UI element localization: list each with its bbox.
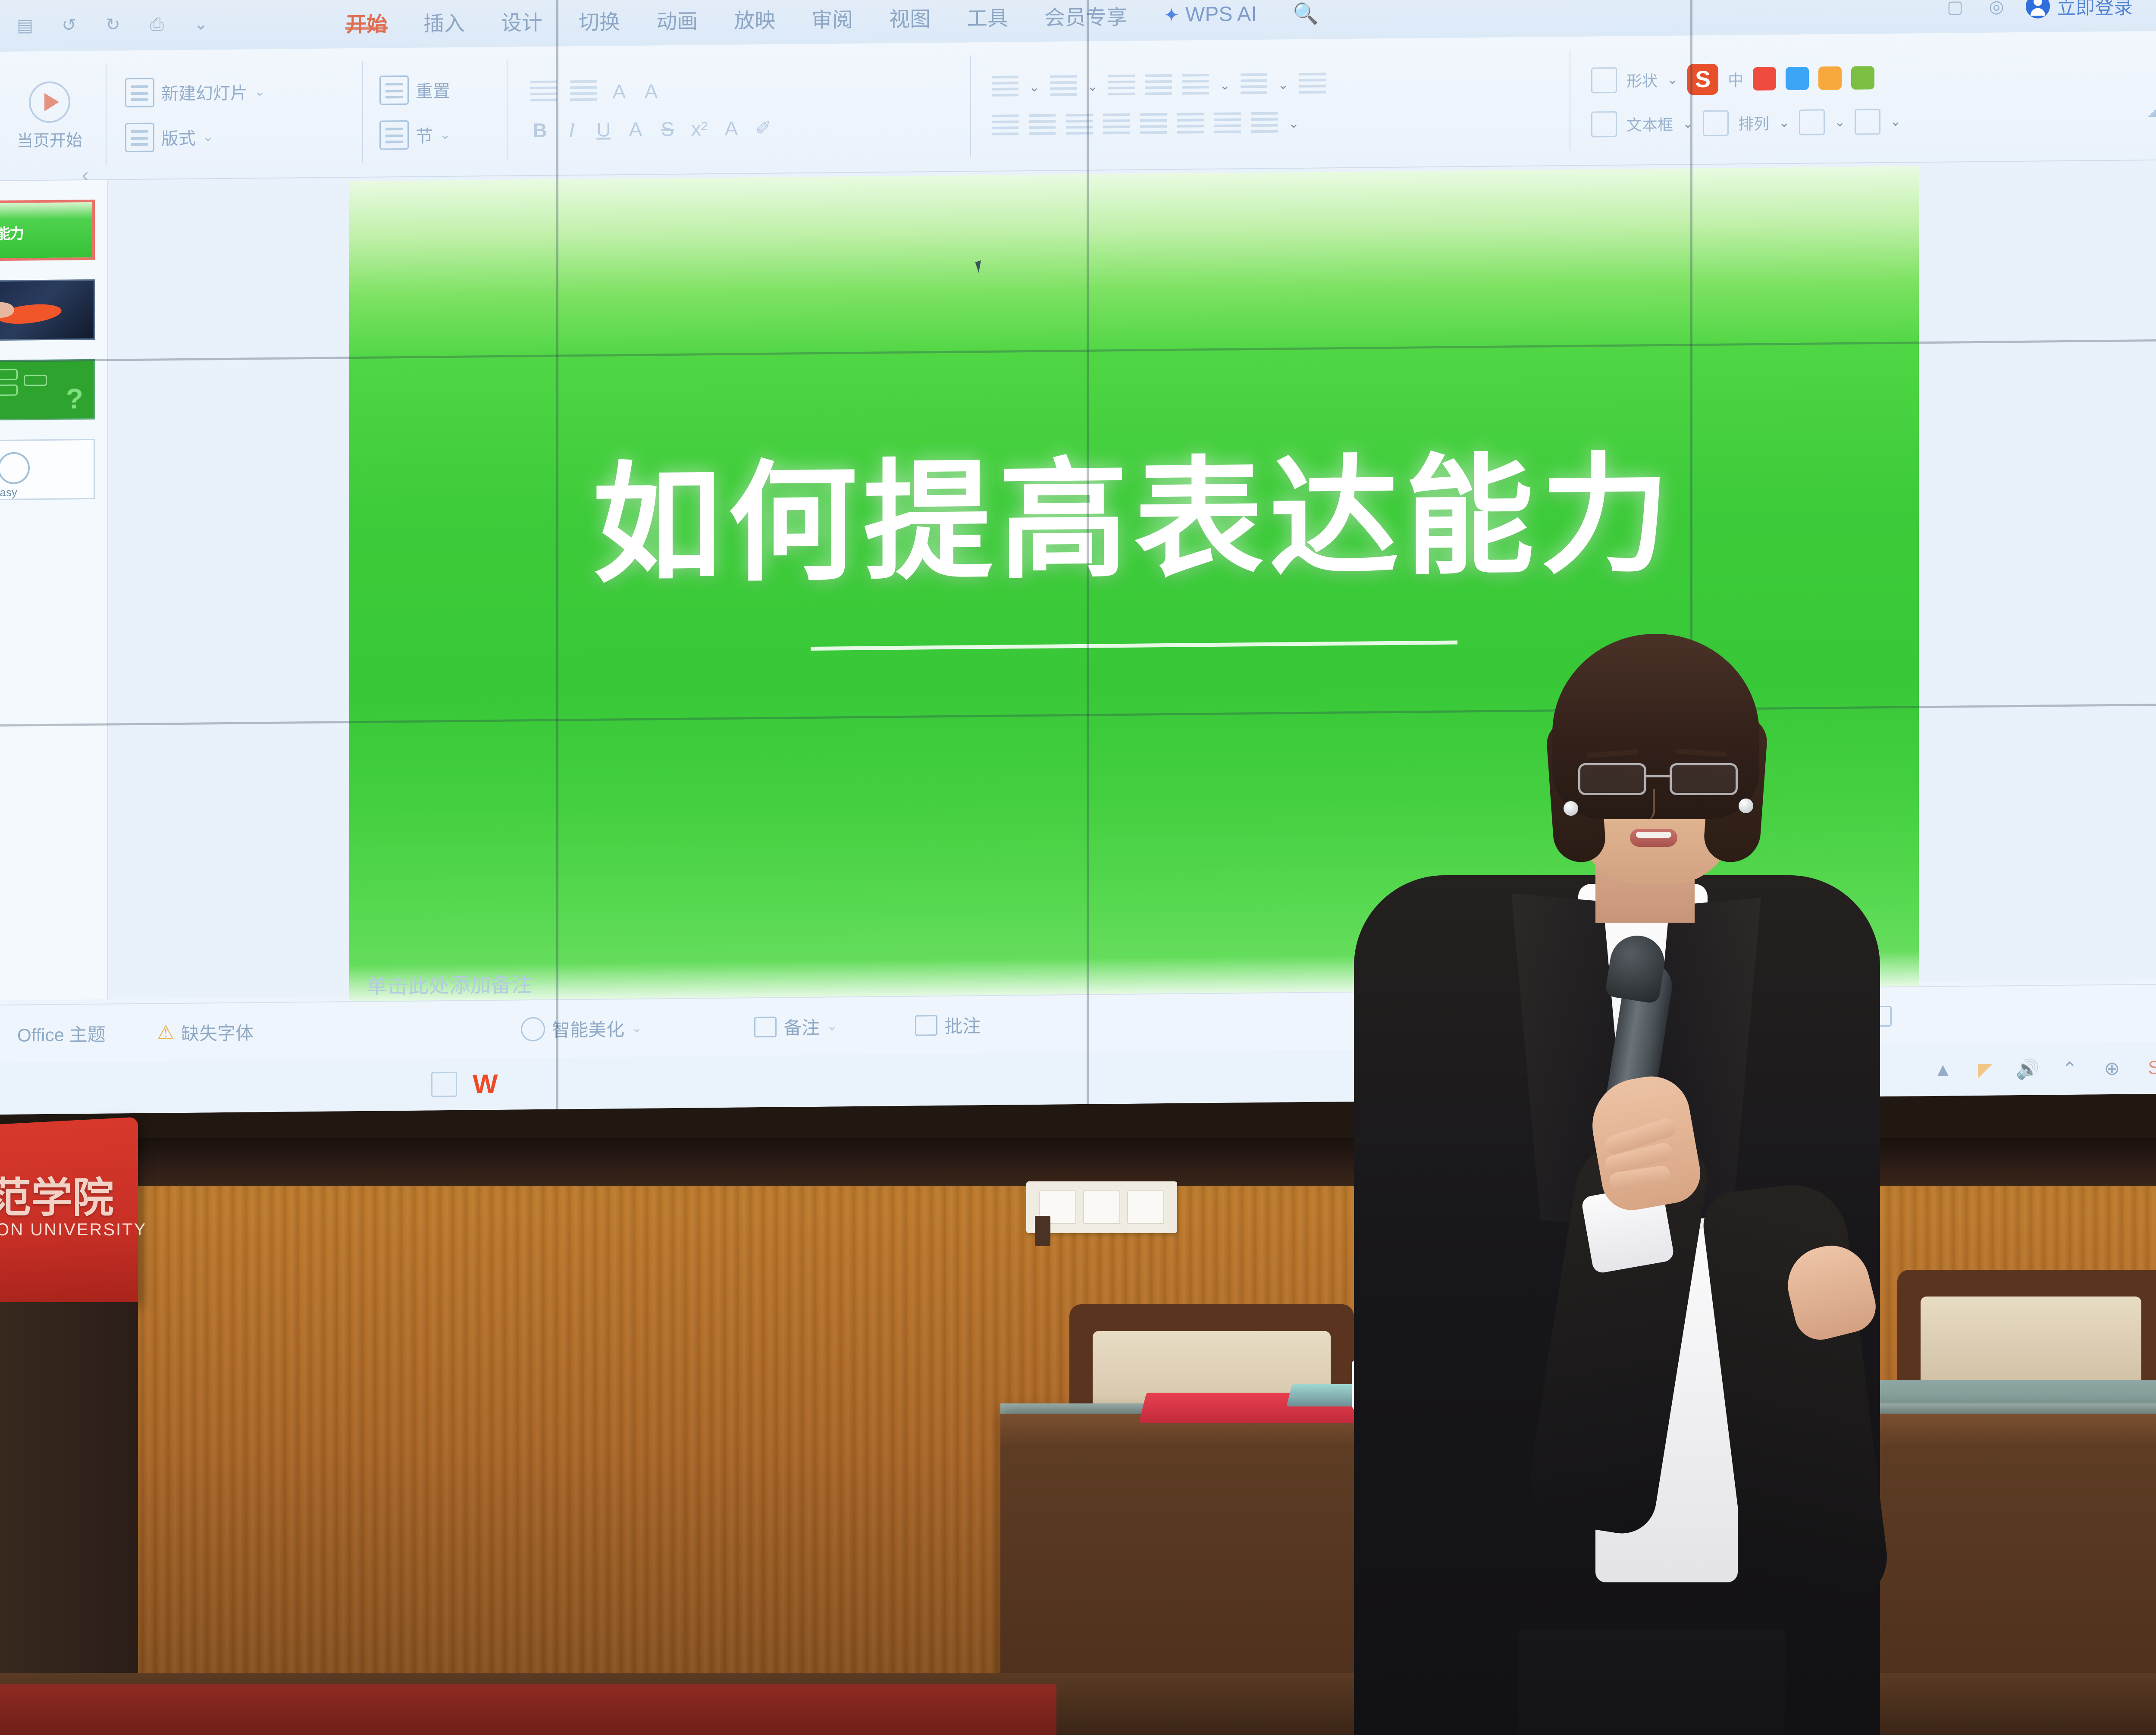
decrease-indent-button[interactable] xyxy=(1108,75,1135,98)
cloud-sync-icon[interactable]: ☁ xyxy=(2147,97,2156,122)
tab-animation[interactable]: 动画 xyxy=(638,4,716,35)
collapse-panel-button[interactable]: ‹ xyxy=(82,163,88,186)
login-label: 立即登录 xyxy=(2057,0,2133,20)
theme-label[interactable]: Office 主题 xyxy=(17,1020,106,1047)
section-icon xyxy=(379,120,409,150)
underline-button[interactable]: U xyxy=(594,118,613,141)
chevron-down-icon[interactable]: ⌄ xyxy=(1278,77,1288,92)
chevron-down-icon[interactable]: ⌄ xyxy=(440,127,451,142)
mobile-icon[interactable]: ▢ xyxy=(1943,0,1967,19)
new-slide-button[interactable]: 新建幻灯片 ⌄ xyxy=(125,77,265,107)
tab-slideshow[interactable]: 放映 xyxy=(716,3,793,34)
ribbon-group-font: A A B I U A S x² A ✐ xyxy=(530,44,773,176)
justify-button[interactable] xyxy=(1103,113,1130,137)
avatar xyxy=(2026,0,2050,19)
eyeglasses xyxy=(1578,763,1738,795)
presenter-legs xyxy=(1518,1630,1785,1735)
decrease-font-icon[interactable]: A xyxy=(642,79,661,103)
app-tray-icon[interactable]: ◤ xyxy=(1974,1059,1996,1081)
section-button[interactable]: 节 ⌄ xyxy=(379,120,451,150)
chevron-down-icon[interactable]: ⌄ xyxy=(1667,72,1678,87)
chevron-down-icon[interactable]: ⌄ xyxy=(1029,79,1040,94)
file-explorer-icon[interactable] xyxy=(431,1072,457,1097)
wps-app-icon[interactable]: W xyxy=(473,1068,498,1099)
chevron-down-icon[interactable]: ⌄ xyxy=(189,12,213,36)
color-green-icon[interactable] xyxy=(1851,66,1874,90)
quick-access-toolbar: ▤ ↺ ↻ ⎙ ⌄ xyxy=(0,12,213,38)
chevron-down-icon[interactable]: ⌄ xyxy=(1779,115,1789,130)
tab-member-exclusive[interactable]: 会员专享 xyxy=(1026,0,1145,31)
outline-icon[interactable] xyxy=(1855,109,1880,135)
comment-icon xyxy=(915,1015,937,1036)
character-spacing-button[interactable]: A xyxy=(722,117,741,140)
fill-icon[interactable] xyxy=(1799,109,1825,135)
align-left-button[interactable] xyxy=(992,114,1018,138)
reset-icon xyxy=(379,75,409,105)
play-icon xyxy=(29,81,70,123)
taskbar-apps: W xyxy=(0,1068,498,1104)
font-size-box[interactable] xyxy=(570,80,597,104)
distribute-button[interactable] xyxy=(1140,113,1167,137)
undo-icon[interactable]: ↺ xyxy=(57,13,81,38)
earring-left xyxy=(1564,801,1578,816)
chevron-down-icon[interactable]: ⌄ xyxy=(254,84,265,99)
shape-icon[interactable] xyxy=(1591,67,1617,94)
chevron-down-icon[interactable]: ⌄ xyxy=(1288,116,1299,131)
align-middle-button[interactable] xyxy=(1214,112,1241,136)
red-carpet xyxy=(0,1684,1056,1735)
align-center-button[interactable] xyxy=(1029,114,1056,138)
slide-thumbnail-panel[interactable]: 能力 ? xyxy=(0,180,108,1000)
shape-row: 形状 ⌄ S 中 xyxy=(1591,62,1874,96)
slide-thumbnail-2[interactable] xyxy=(0,279,95,341)
tab-insert[interactable]: 插入 xyxy=(405,6,483,37)
line-spacing-button[interactable] xyxy=(1182,74,1209,97)
ribbon-group-drawing: 形状 ⌄ S 中 文本框 xyxy=(1591,34,1901,166)
tab-design[interactable]: 设计 xyxy=(483,6,561,37)
ribbon-group-paragraph: ⌄ ⌄ ⌄ ⌄ xyxy=(992,39,1326,171)
strikethrough-button[interactable]: S xyxy=(658,117,677,141)
mouth xyxy=(1630,829,1677,847)
color-red-icon[interactable] xyxy=(1753,67,1776,91)
list-row: ⌄ ⌄ ⌄ ⌄ xyxy=(992,72,1326,99)
tab-home[interactable]: 开始 xyxy=(328,7,405,38)
tab-review[interactable]: 审阅 xyxy=(793,3,871,34)
search-icon[interactable]: 🔍 xyxy=(1275,1,1337,26)
slide-title-text[interactable]: 如何提高表达能力 xyxy=(349,407,1919,610)
taskbar-tray: ▲ ◤ 🔊 ⌃ ⊕ S 14:49 2025-4-9 xyxy=(1932,1049,2156,1089)
divider xyxy=(362,61,363,163)
show-desktop-icon[interactable]: ▲ xyxy=(1932,1059,1954,1081)
smart-beautify-button[interactable]: 智能美化 ⌄ xyxy=(521,1015,642,1043)
align-bottom-button[interactable] xyxy=(1251,112,1278,136)
window-controls-group: ▢ ◎ 立即登录 — ❐ ✕ xyxy=(1943,0,2156,33)
reset-button[interactable]: 重置 xyxy=(379,75,450,105)
compass-icon[interactable]: ◎ xyxy=(1984,0,2009,19)
circle-shape xyxy=(0,452,30,484)
slide-thumbnail-3[interactable]: ? xyxy=(0,359,95,420)
wifi-icon[interactable]: ⌃ xyxy=(2059,1058,2081,1080)
tab-view[interactable]: 视图 xyxy=(871,2,949,33)
podium-name-cn: 范学院 xyxy=(0,1164,132,1224)
tab-wps-ai[interactable]: ✦WPS AI xyxy=(1145,2,1275,27)
minimize-button[interactable]: — xyxy=(2150,0,2156,17)
chevron-down-icon[interactable]: ⌄ xyxy=(1219,78,1230,93)
podium-base xyxy=(0,1302,138,1735)
increase-indent-button[interactable] xyxy=(1145,74,1172,98)
italic-button[interactable]: I xyxy=(562,118,581,141)
bullet-list-button[interactable] xyxy=(992,75,1018,99)
wall-port xyxy=(1035,1216,1050,1246)
divider xyxy=(507,60,508,161)
redo-icon[interactable]: ↻ xyxy=(101,13,125,37)
network-icon[interactable]: ⊕ xyxy=(2101,1057,2123,1080)
volume-icon[interactable]: 🔊 xyxy=(2016,1058,2039,1080)
ribbon-group-slideshow: 当页开始 xyxy=(4,51,95,181)
text-shadow-button[interactable]: A xyxy=(626,118,645,141)
sogou-icon[interactable]: S xyxy=(2143,1057,2156,1079)
earring-right xyxy=(1739,799,1753,813)
arrange-icon[interactable] xyxy=(1703,110,1729,137)
comment-toggle-button[interactable]: 批注 xyxy=(915,1012,981,1038)
columns-button[interactable] xyxy=(1299,72,1326,96)
clear-format-button[interactable]: ✐ xyxy=(754,116,773,140)
layout-button[interactable]: 版式 ⌄ xyxy=(125,122,213,152)
lecture-hall-photo: ▤ ↺ ↻ ⎙ ⌄ 开始 插入 设计 切换 动画 放映 xyxy=(0,0,2156,1735)
divider xyxy=(970,55,971,157)
divider xyxy=(1570,50,1570,151)
tab-tools[interactable]: 工具 xyxy=(949,1,1026,32)
chevron-down-icon[interactable]: ⌄ xyxy=(203,129,213,144)
start-from-current-button[interactable]: 当页开始 xyxy=(4,81,95,151)
align-top-button[interactable] xyxy=(1177,113,1204,136)
presenter xyxy=(1354,634,1880,1735)
chevron-down-icon[interactable]: ⌄ xyxy=(1834,114,1845,129)
font-style-row: B I U A S x² A ✐ xyxy=(530,116,773,142)
notes-icon xyxy=(754,1016,777,1037)
question-mark-icon: ? xyxy=(66,382,83,415)
podium-name-en: ION UNIVERSITY xyxy=(0,1220,145,1240)
sparkle-icon xyxy=(521,1017,545,1041)
nose xyxy=(1644,789,1655,820)
increase-font-icon[interactable]: A xyxy=(610,80,629,103)
sparkle-icon: ✦ xyxy=(1163,4,1179,25)
new-slide-icon xyxy=(125,78,154,108)
chevron-down-icon[interactable]: ⌄ xyxy=(1890,114,1901,129)
chevron-down-icon[interactable]: ⌄ xyxy=(631,1021,642,1036)
bold-button[interactable]: B xyxy=(530,119,549,142)
tab-transitions[interactable]: 切换 xyxy=(561,5,638,36)
superscript-button[interactable]: x² xyxy=(690,117,709,140)
slide-thumbnail-1[interactable]: 能力 xyxy=(0,200,95,261)
text-direction-button[interactable] xyxy=(1241,73,1267,97)
save-icon[interactable]: ▤ xyxy=(13,13,37,38)
diagram-shape xyxy=(0,369,44,408)
notes-toggle-button[interactable]: 备注 ⌄ xyxy=(754,1013,837,1040)
font-name-box[interactable] xyxy=(530,81,557,104)
chevron-down-icon[interactable]: ⌄ xyxy=(827,1018,837,1033)
numbered-list-button[interactable] xyxy=(1050,75,1077,99)
align-row: ⌄ xyxy=(992,112,1299,138)
smart-label: 中 xyxy=(1728,68,1743,90)
slide-thumbnail-4[interactable]: easy xyxy=(0,439,95,500)
textbox-icon[interactable] xyxy=(1591,111,1617,138)
font-warning[interactable]: ⚠ 缺失字体 xyxy=(157,1018,254,1046)
print-icon[interactable]: ⎙ xyxy=(145,12,169,37)
layout-icon xyxy=(125,123,154,153)
ribbon-group-slides: 新建幻灯片 ⌄ 版式 ⌄ xyxy=(125,49,265,180)
warning-icon: ⚠ xyxy=(157,1021,174,1043)
divider xyxy=(106,64,107,165)
ribbon-group-reset: 重置 节 ⌄ xyxy=(379,47,451,178)
textbox-row: 文本框 ⌄ 排列 ⌄ ⌄ ⌄ xyxy=(1591,109,1901,138)
color-blue-icon[interactable] xyxy=(1786,67,1809,91)
font-name-row: A A xyxy=(530,79,661,104)
color-orange-icon[interactable] xyxy=(1818,66,1842,90)
login-button[interactable]: 立即登录 xyxy=(2026,0,2133,20)
ribbon-body: 当页开始 新建幻灯片 ⌄ 版式 xyxy=(0,30,2156,181)
